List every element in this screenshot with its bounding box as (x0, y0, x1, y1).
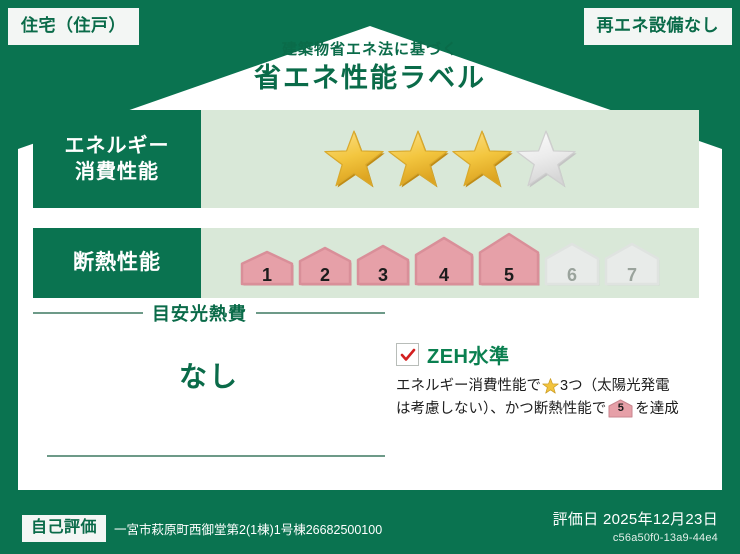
insulation-level-5: 5 (478, 232, 540, 291)
zeh-desc-stars: 3つ（太陽光発電 (560, 378, 670, 394)
insulation-level-2: 2 (298, 246, 352, 291)
star-icon-filled (323, 129, 385, 189)
insulation-rating: 1234567 (201, 228, 699, 298)
house-icon (604, 242, 660, 286)
title-main: 省エネ性能ラベル (0, 63, 740, 94)
evaluation-id: c56a50f0-13a9-44e4 (553, 532, 718, 544)
insulation-level-icon-number: 5 (608, 400, 633, 418)
house-icon (478, 232, 540, 286)
star-icon-filled (387, 129, 449, 189)
check-icon (400, 348, 416, 362)
zeh-header: ZEH水準 (396, 340, 702, 369)
insulation-level-1: 1 (240, 250, 294, 291)
insulation-row: 断熱性能 1234567 (33, 228, 699, 298)
energy-consumption-caption: エネルギー 消費性能 (33, 110, 201, 208)
utility-cost-title: 目安光熱費 (152, 300, 247, 326)
utility-cost-rule-left (33, 312, 143, 314)
zeh-title: ZEH水準 (427, 340, 510, 369)
insulation-level-scale: 1234567 (240, 232, 660, 295)
energy-consumption-caption-line1: エネルギー (65, 135, 170, 157)
star-icon-filled (451, 129, 513, 189)
energy-performance-label: 住宅（住戸） 再エネ設備なし 建築物省エネ法に基づく 省エネ性能ラベル エネルギ… (0, 0, 740, 554)
utility-cost-rule-right (256, 312, 385, 314)
energy-consumption-rating (201, 110, 699, 208)
energy-consumption-row: エネルギー 消費性能 (33, 110, 699, 208)
title-subtitle: 建築物省エネ法に基づく (0, 42, 740, 59)
star-icon (542, 378, 559, 394)
insulation-level-3: 3 (356, 244, 410, 291)
evaluation-date: 評価日 2025年12月23日 (553, 508, 718, 529)
insulation-level-6: 6 (544, 242, 600, 291)
self-evaluation-badge: 自己評価 (22, 515, 106, 542)
page-title: 建築物省エネ法に基づく 省エネ性能ラベル (0, 42, 740, 94)
utility-cost-value: なし (33, 355, 385, 395)
star-icon-empty (515, 129, 577, 189)
zeh-desc-part3: を達成 (635, 401, 679, 417)
property-address: 一宮市萩原町西御堂第2(1棟)1号棟26682500100 (114, 519, 382, 538)
zeh-block: ZEH水準 エネルギー消費性能で3つ（太陽光発電は考慮しない）、かつ断熱性能で5… (396, 340, 702, 422)
renewable-equipment-badge: 再エネ設備なし (584, 8, 733, 45)
house-icon (414, 236, 474, 286)
footer-left: 自己評価 一宮市萩原町西御堂第2(1棟)1号棟26682500100 (22, 515, 382, 542)
house-icon (544, 242, 600, 286)
utility-cost-bottom-rule (47, 455, 385, 457)
insulation-level-4: 4 (414, 236, 474, 291)
footer-right: 評価日 2025年12月23日 c56a50f0-13a9-44e4 (553, 508, 718, 544)
house-icon (298, 246, 352, 286)
insulation-level-7: 7 (604, 242, 660, 291)
house-icon (240, 250, 294, 286)
insulation-level-icon: 5 (608, 399, 633, 418)
building-type-badge: 住宅（住戸） (8, 8, 139, 45)
star-rating (323, 129, 577, 189)
zeh-description: エネルギー消費性能で3つ（太陽光発電は考慮しない）、かつ断熱性能で5を達成 (396, 375, 702, 422)
zeh-desc-part1: エネルギー消費性能で (396, 378, 541, 394)
insulation-caption: 断熱性能 (33, 228, 201, 298)
energy-consumption-caption-line2: 消費性能 (75, 161, 159, 183)
house-icon (356, 244, 410, 286)
zeh-checkbox[interactable] (396, 343, 419, 366)
utility-cost-header: 目安光熱費 (33, 300, 385, 326)
zeh-desc-part2: は考慮しない）、かつ断熱性能で (396, 401, 606, 417)
